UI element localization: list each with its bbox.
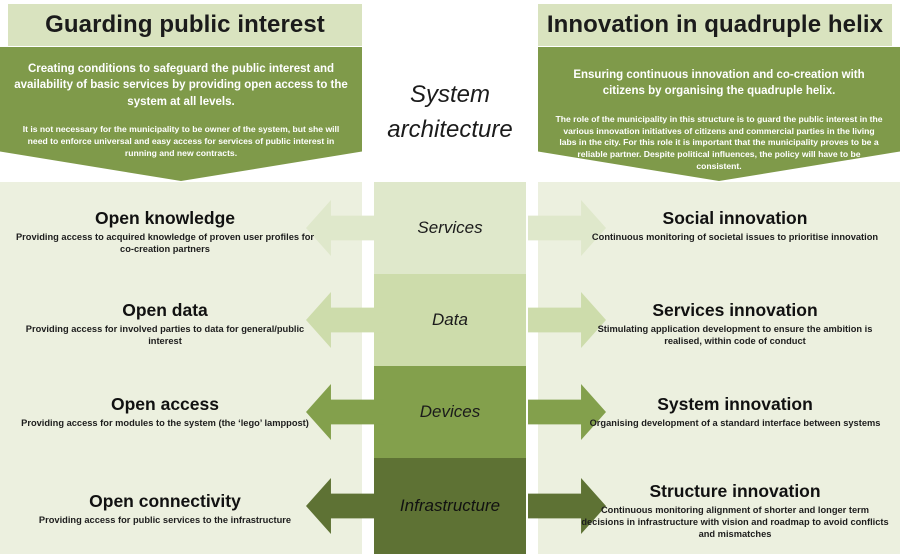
- right-row-1-body: Stimulating application development to e…: [580, 323, 890, 348]
- right-column-header-panel: Ensuring continuous innovation and co-cr…: [538, 47, 900, 181]
- left-row-2-heading: Open access: [10, 394, 320, 415]
- left-row-2-body: Providing access for modules to the syst…: [10, 417, 320, 429]
- right-column-title-bar: Innovation in quadruple helix: [538, 4, 892, 46]
- center-title: System architecture: [362, 78, 538, 148]
- layer-data: Data: [374, 274, 526, 366]
- system-architecture-diagram: Guarding public interest Creating condit…: [0, 0, 900, 554]
- layer-devices: Devices: [374, 366, 526, 458]
- left-header-lead-text: Creating conditions to safeguard the pub…: [14, 61, 348, 110]
- right-row-1-heading: Services innovation: [580, 300, 890, 321]
- layer-infrastructure: Infrastructure: [374, 458, 526, 554]
- layer-services: Services: [374, 182, 526, 274]
- right-row-0-body: Continuous monitoring of societal issues…: [580, 231, 890, 243]
- center-title-line-2: architecture: [362, 113, 538, 148]
- left-row-3-body: Providing access for public services to …: [10, 514, 320, 526]
- right-row-2-body: Organising development of a standard int…: [580, 417, 890, 429]
- left-row-1-body: Providing access for involved parties to…: [10, 323, 320, 348]
- layer-devices-label: Devices: [420, 402, 480, 422]
- layer-infrastructure-label: Infrastructure: [400, 496, 500, 516]
- right-row-3-body: Continuous monitoring alignment of short…: [580, 504, 890, 541]
- left-column-header-panel: Creating conditions to safeguard the pub…: [0, 47, 362, 181]
- right-column-title: Innovation in quadruple helix: [547, 11, 883, 39]
- left-header-sub-text: It is not necessary for the municipality…: [16, 124, 346, 160]
- right-header-lead-text: Ensuring continuous innovation and co-cr…: [552, 67, 886, 100]
- left-row-open-knowledge: Open knowledge Providing access to acqui…: [0, 208, 330, 255]
- center-title-line-1: System: [362, 78, 538, 113]
- right-row-system-innovation: System innovation Organising development…: [570, 394, 900, 429]
- right-row-0-heading: Social innovation: [580, 208, 890, 229]
- left-row-1-heading: Open data: [10, 300, 320, 321]
- layer-services-label: Services: [417, 218, 482, 238]
- right-row-structure-innovation: Structure innovation Continuous monitori…: [570, 481, 900, 541]
- right-row-2-heading: System innovation: [580, 394, 890, 415]
- right-header-sub-text: The role of the municipality in this str…: [554, 114, 884, 173]
- left-row-0-heading: Open knowledge: [10, 208, 320, 229]
- architecture-layer-stack: Services Data Devices Infrastructure: [374, 182, 526, 554]
- left-row-0-body: Providing access to acquired knowledge o…: [10, 231, 320, 256]
- left-row-open-connectivity: Open connectivity Providing access for p…: [0, 491, 330, 526]
- layer-data-label: Data: [432, 310, 468, 330]
- right-row-3-heading: Structure innovation: [580, 481, 890, 502]
- right-row-services-innovation: Services innovation Stimulating applicat…: [570, 300, 900, 347]
- left-row-open-data: Open data Providing access for involved …: [0, 300, 330, 347]
- left-row-3-heading: Open connectivity: [10, 491, 320, 512]
- left-column-title-bar: Guarding public interest: [8, 4, 362, 46]
- right-row-social-innovation: Social innovation Continuous monitoring …: [570, 208, 900, 243]
- left-row-open-access: Open access Providing access for modules…: [0, 394, 330, 429]
- left-column-title: Guarding public interest: [45, 11, 325, 39]
